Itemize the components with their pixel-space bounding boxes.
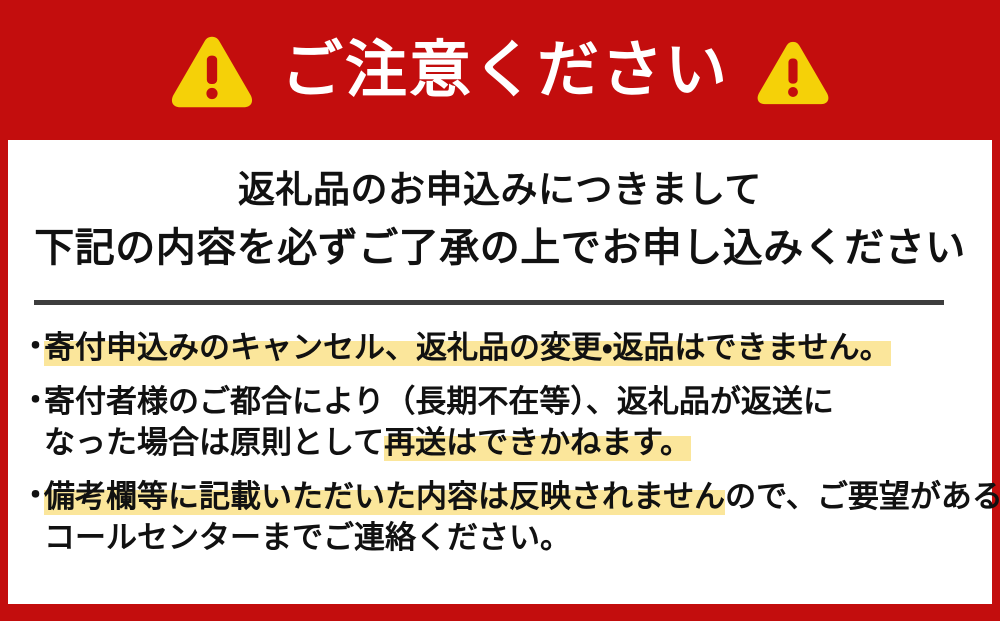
page-title: ご注意ください <box>281 40 729 102</box>
plain-text: なった場合は原則として <box>44 425 384 460</box>
list-bullet-icon: ・ <box>20 327 44 367</box>
plain-text: 寄付者様のご都合により（長期不在等）、返礼品が返送に <box>44 384 834 419</box>
lead-block: 返礼品のお申込みにつきまして 下記の内容を必ずご了承の上でお申し込みください <box>8 140 992 278</box>
lead-line-1: 返礼品のお申込みにつきまして <box>8 162 992 218</box>
warning-triangle-icon <box>169 33 255 111</box>
plain-text: コールセンターまでご連絡ください。 <box>44 520 571 555</box>
highlighted-text: 再送はできかねます。 <box>384 425 691 461</box>
highlighted-text: 寄付申込みのキャンセル、返礼品の変更・返品はできません。 <box>44 330 891 366</box>
list-item-line: 寄付申込みのキャンセル、返礼品の変更・返品はできません。 <box>44 327 992 368</box>
list-item-text: 寄付者様のご都合により（長期不在等）、返礼品が返送になった場合は原則として再送は… <box>44 381 992 463</box>
list-item-line: 寄付者様のご都合により（長期不在等）、返礼品が返送に <box>44 381 992 422</box>
list-item: ・寄付申込みのキャンセル、返礼品の変更・返品はできません。 <box>8 327 992 368</box>
list-item: ・備考欄等に記載いただいた内容は反映されませんので、ご要望がある際はコールセンタ… <box>8 476 992 558</box>
plain-text: ので、ご要望がある際は <box>725 479 1000 514</box>
warning-triangle-icon <box>755 38 831 108</box>
list-item-text: 寄付申込みのキャンセル、返礼品の変更・返品はできません。 <box>44 327 992 368</box>
donation-notice-card: ご注意ください 返礼品のお申込みにつきまして 下記の内容を必ずご了承の上でお申し… <box>0 0 1000 621</box>
notice-body-panel: 返礼品のお申込みにつきまして 下記の内容を必ずご了承の上でお申し込みください ・… <box>8 140 992 604</box>
list-item-line: 備考欄等に記載いただいた内容は反映されませんので、ご要望がある際は <box>44 476 992 517</box>
notes-list: ・寄付申込みのキャンセル、返礼品の変更・返品はできません。・寄付者様のご都合によ… <box>8 305 992 559</box>
header-banner: ご注意ください <box>0 0 1000 140</box>
list-item-line: なった場合は原則として再送はできかねます。 <box>44 422 992 463</box>
lead-line-2: 下記の内容を必ずご了承の上でお申し込みください <box>8 218 992 278</box>
list-item-text: 備考欄等に記載いただいた内容は反映されませんので、ご要望がある際はコールセンター… <box>44 476 992 558</box>
list-item-line: コールセンターまでご連絡ください。 <box>44 517 992 558</box>
highlighted-text: 備考欄等に記載いただいた内容は反映されません <box>44 479 725 515</box>
list-item: ・寄付者様のご都合により（長期不在等）、返礼品が返送になった場合は原則として再送… <box>8 381 992 463</box>
list-bullet-icon: ・ <box>20 381 44 421</box>
list-bullet-icon: ・ <box>20 476 44 516</box>
